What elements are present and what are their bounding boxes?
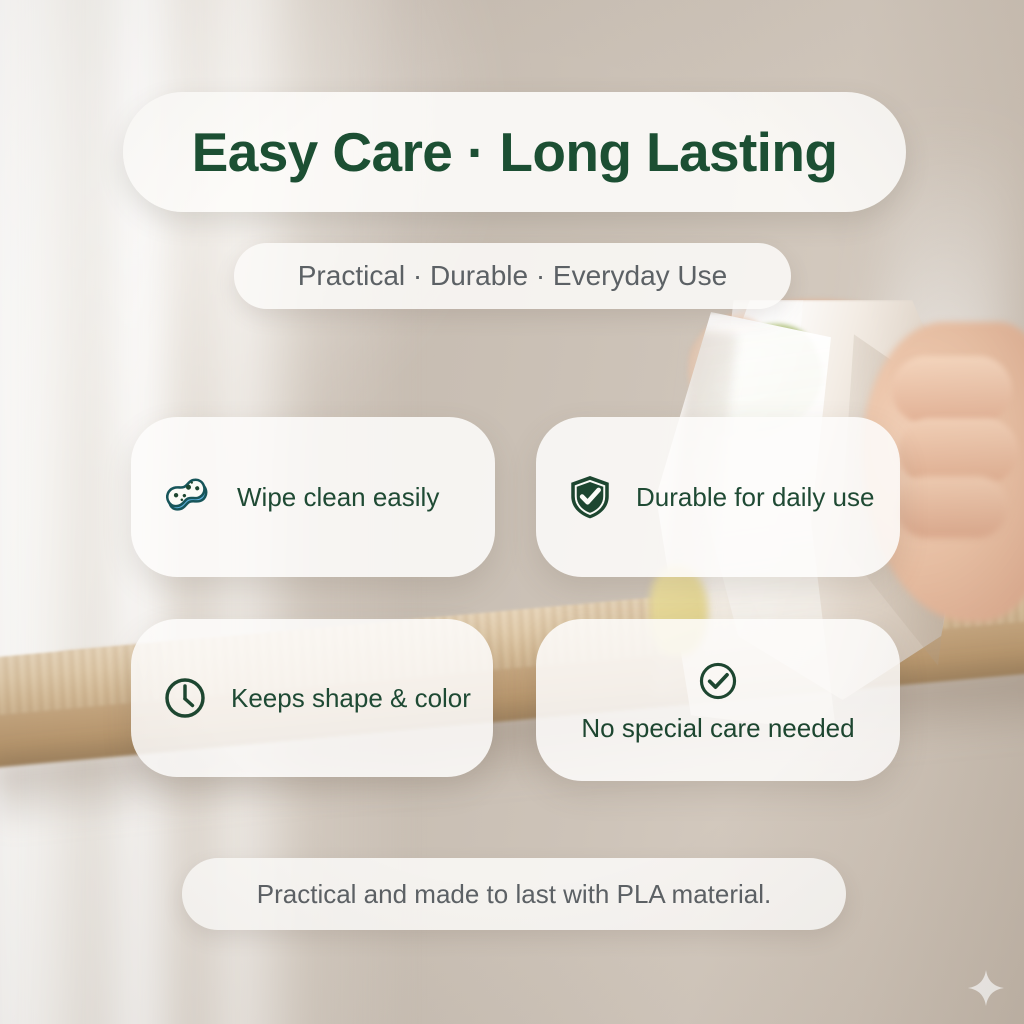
feature-card-wipe-clean[interactable]: Wipe clean easily [131, 417, 495, 577]
feature-label: Keeps shape & color [231, 683, 471, 714]
title-pill: Easy Care · Long Lasting [123, 92, 906, 212]
footer-pill: Practical and made to last with PLA mate… [182, 858, 846, 930]
shield-check-icon [566, 473, 614, 521]
feature-label: No special care needed [581, 713, 854, 744]
circle-check-icon [694, 657, 742, 705]
finger-middle [898, 418, 1018, 484]
promo-graphic: Easy Care · Long Lasting Practical · Dur… [0, 0, 1024, 1024]
feature-label: Durable for daily use [636, 482, 874, 513]
feature-card-durable[interactable]: Durable for daily use [536, 417, 900, 577]
sparkle-icon [966, 968, 1006, 1008]
sponge-icon [161, 470, 215, 524]
subtitle-pill: Practical · Durable · Everyday Use [234, 243, 791, 309]
finger-index [892, 356, 1012, 424]
feature-card-keeps-shape[interactable]: Keeps shape & color [131, 619, 493, 777]
page-title: Easy Care · Long Lasting [192, 120, 838, 184]
footer-caption: Practical and made to last with PLA mate… [257, 879, 771, 910]
clock-icon [161, 674, 209, 722]
feature-card-no-special-care[interactable]: No special care needed [536, 619, 900, 781]
finger-ring [896, 476, 1008, 538]
feature-label: Wipe clean easily [237, 482, 439, 513]
page-subtitle: Practical · Durable · Everyday Use [298, 260, 727, 292]
